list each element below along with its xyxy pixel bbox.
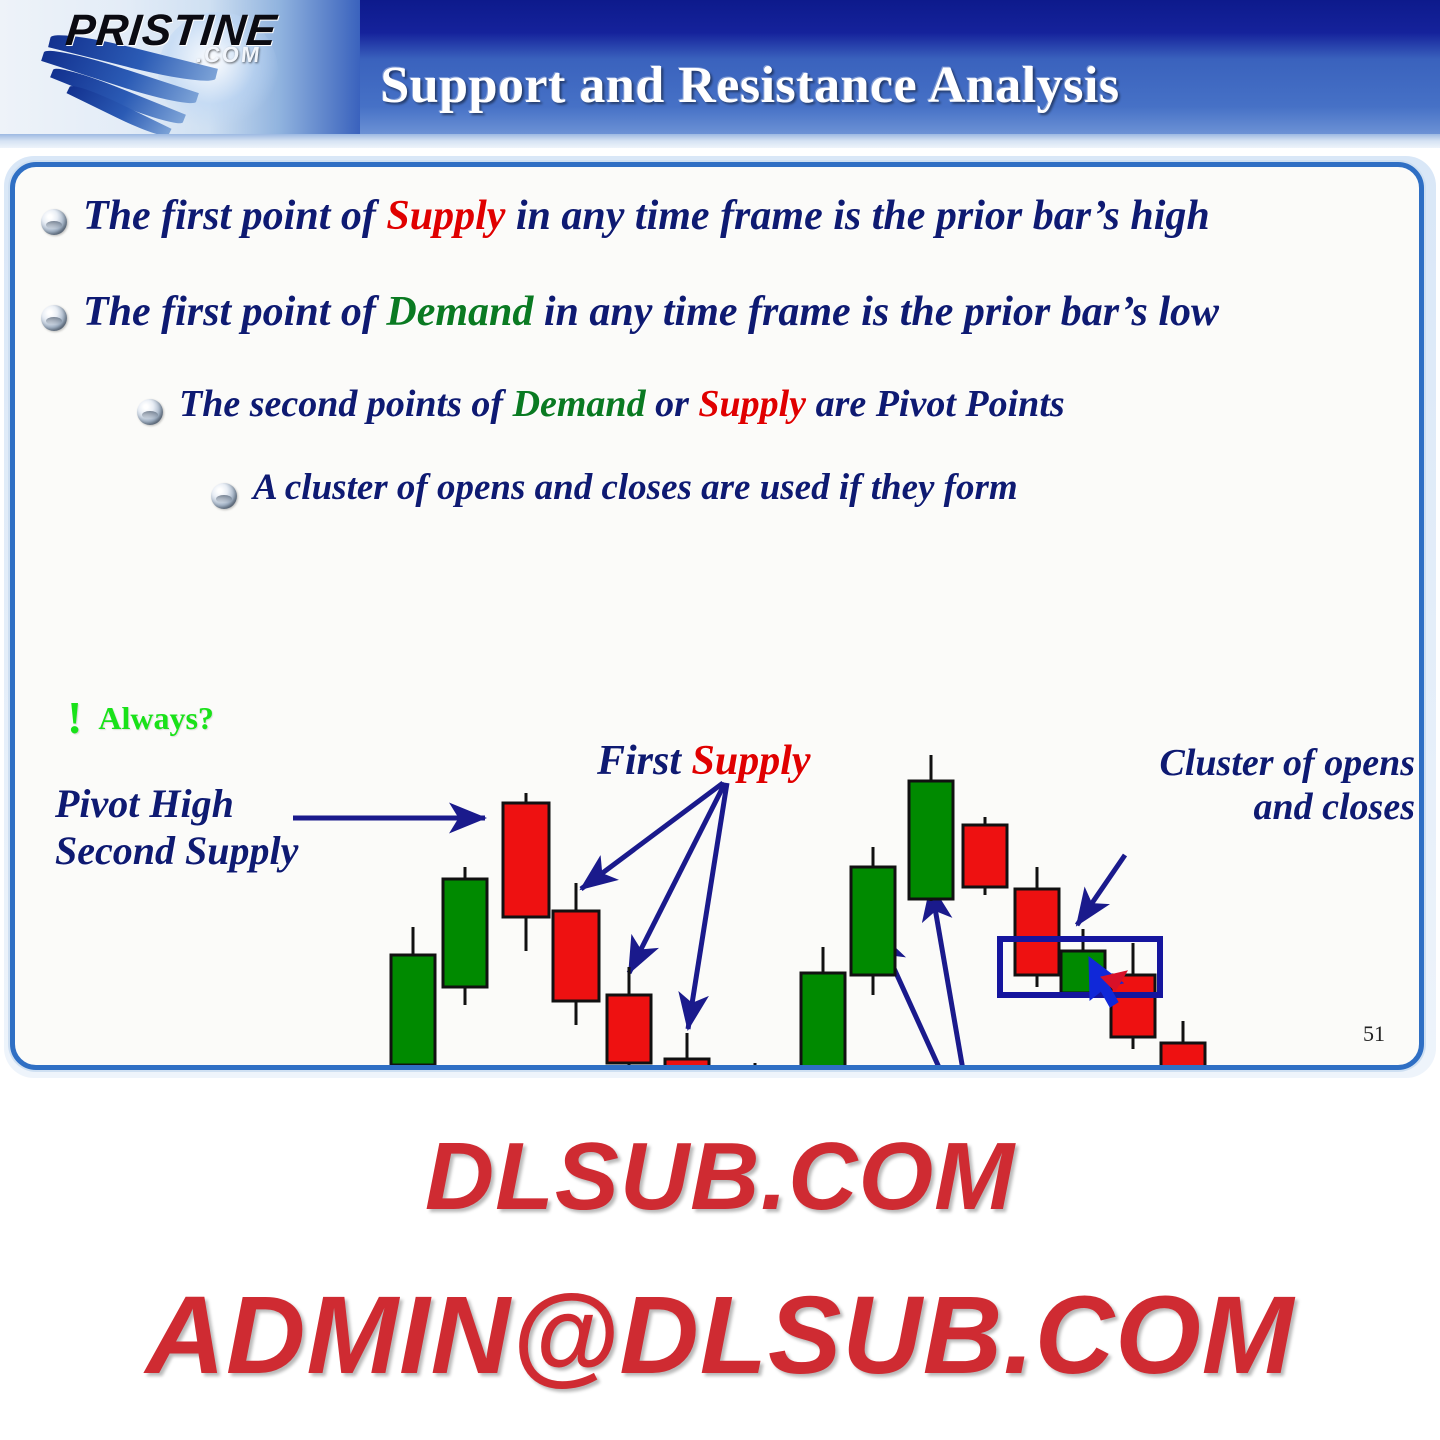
bullet-item-label: The first point of Supply in any time fr… [83, 195, 1210, 237]
candle-6-body [665, 1059, 709, 1065]
first-demand-arrow-3 [931, 885, 977, 1065]
page-title: Support and Resistance Analysis [0, 56, 1440, 115]
bullet-sphere-icon [137, 399, 163, 425]
annotation-arrows [293, 783, 1125, 1065]
candle-15-body [1161, 1043, 1205, 1065]
candle-10-body [909, 781, 953, 899]
candle-13-body [1061, 951, 1105, 993]
bullet-3-span-3: or [646, 383, 699, 425]
candle-7-up [733, 1063, 777, 1065]
candle-9-body [851, 867, 895, 975]
header-underline [0, 134, 1440, 148]
annotation-pivot-high-line1: Pivot High [55, 780, 298, 827]
bullet-2-span-3: in any time frame is the prior bar’s low [533, 289, 1219, 335]
slide-header: PRISTINE .COM Support and Resistance Ana… [0, 0, 1440, 148]
cluster-box-rect [1000, 939, 1160, 995]
candle-11-down [963, 817, 1007, 895]
candle-14-down [1111, 943, 1155, 1049]
always-note: ! Always? [67, 695, 214, 741]
annotation-cluster: Cluster of opens and closes [1075, 742, 1415, 829]
cluster-arrow [1077, 855, 1125, 925]
candle-6-down [665, 1033, 709, 1065]
candle-11-body [963, 825, 1007, 887]
first-supply-arrow-3 [688, 783, 727, 1029]
candle-12-body [1015, 889, 1059, 975]
first-demand-arrow-2 [877, 931, 977, 1065]
annotation-first-supply-keyword: Supply [692, 738, 811, 784]
first-supply-arrow-2 [629, 783, 725, 973]
candle-5-body [607, 995, 651, 1063]
bullet-item-4: A cluster of opens and closes are used i… [211, 469, 1018, 509]
cursor-arrow-red [1101, 971, 1127, 991]
candle-3-down [503, 793, 549, 951]
candle-14-body [1111, 975, 1155, 1037]
bullet-item-label: A cluster of opens and closes are used i… [253, 469, 1018, 506]
bullet-sphere-icon [211, 483, 237, 509]
candle-4-down [553, 883, 599, 1025]
exclamation-icon: ! [67, 695, 82, 741]
bullet-3-span-2: Demand [513, 383, 646, 425]
first-supply-arrow-1 [581, 783, 723, 889]
candle-2-body [443, 879, 487, 987]
candle-8-body [801, 973, 845, 1065]
bullet-item-label: The second points of Demand or Supply ar… [179, 385, 1065, 423]
watermark-site: DLSUB.COM [0, 1122, 1440, 1232]
annotation-cluster-line1: Cluster of opens [1075, 742, 1415, 786]
always-note-text: Always? [98, 700, 214, 737]
bullet-sphere-icon [41, 209, 67, 235]
annotation-first-supply: First Supply [597, 737, 811, 785]
candle-1-body [391, 955, 435, 1065]
candle-15-down [1161, 1021, 1205, 1065]
bullet-4-span-1: A cluster of opens and closes are used i… [253, 467, 1018, 508]
bullet-item-label: The first point of Demand in any time fr… [83, 291, 1219, 333]
candle-13-up [1061, 929, 1105, 993]
annotation-pivot-high: Pivot High Second Supply [55, 780, 298, 874]
bullet-item-1: The first point of Supply in any time fr… [41, 195, 1210, 237]
candle-4-body [553, 911, 599, 1001]
bullet-2-span-2: Demand [386, 289, 533, 335]
candle-8-up [801, 947, 845, 1065]
bullet-3-span-5: are Pivot Points [806, 383, 1065, 425]
cluster-highlight-box [1000, 939, 1160, 995]
slide-page: PRISTINE .COM Support and Resistance Ana… [0, 0, 1440, 1440]
bullet-1-span-1: The first point of [83, 193, 386, 239]
annotation-pivot-high-line2: Second Supply [55, 827, 298, 874]
candle-9-up [851, 847, 895, 995]
candle-2-up [443, 867, 487, 1005]
slide-panel: The first point of Supply in any time fr… [10, 162, 1424, 1070]
candle-1-up [391, 927, 435, 1065]
bullet-item-3: The second points of Demand or Supply ar… [137, 385, 1065, 425]
candle-10-up [909, 755, 953, 901]
mouse-cursor-icon [1089, 957, 1127, 1007]
annotation-first-supply-prefix: First [597, 738, 692, 784]
cursor-arrow-blue [1089, 957, 1123, 1007]
bullet-1-span-2: Supply [386, 193, 505, 239]
bullet-item-2: The first point of Demand in any time fr… [41, 291, 1219, 333]
bullet-sphere-icon [41, 305, 67, 331]
annotation-cluster-line2: and closes [1075, 786, 1415, 830]
candle-3-body [503, 803, 549, 917]
watermark-email: ADMIN@DLSUB.COM [0, 1272, 1440, 1399]
slide-page-number: 51 [1363, 1021, 1385, 1047]
bullet-3-span-4: Supply [698, 383, 806, 425]
bullet-3-span-1: The second points of [179, 383, 513, 425]
candle-12-down [1015, 867, 1059, 987]
bullet-2-span-1: The first point of [83, 289, 386, 335]
bullet-1-span-3: in any time frame is the prior bar’s hig… [505, 193, 1209, 239]
candle-5-down [607, 967, 651, 1065]
